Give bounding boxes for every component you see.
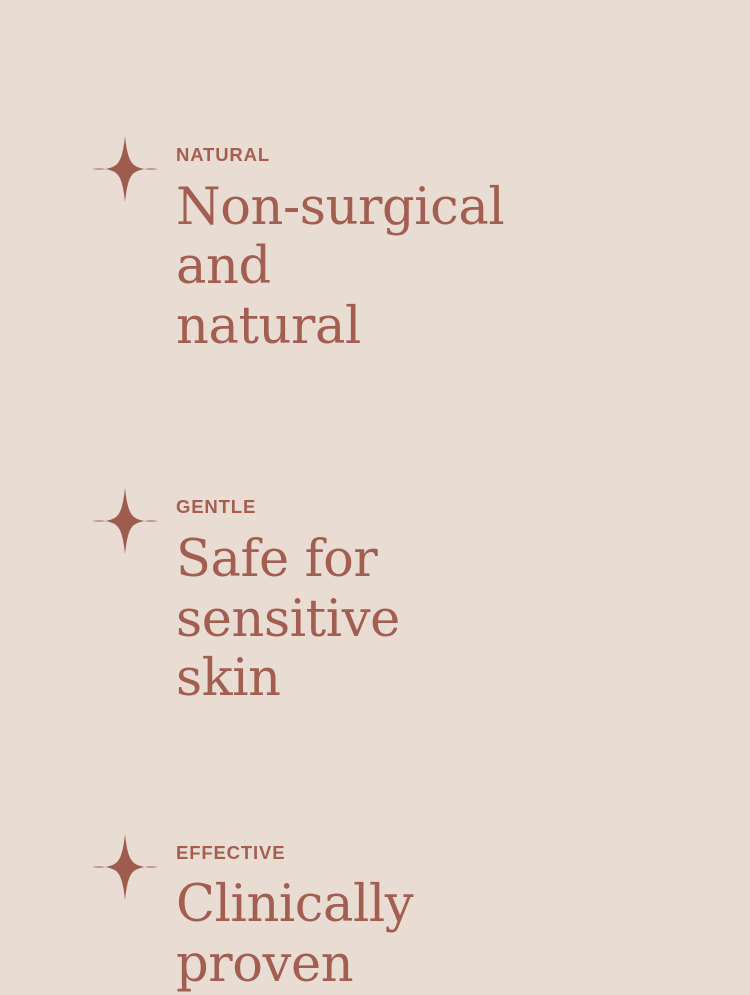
benefit-item: EFFECTIVE Clinically proven bbox=[0, 830, 750, 995]
benefit-heading-line: natural bbox=[176, 297, 606, 357]
sparkle-icon bbox=[92, 834, 158, 900]
benefit-heading: Safe for sensitive skin bbox=[176, 530, 606, 709]
benefit-label: EFFECTIVE bbox=[176, 830, 750, 863]
benefit-heading-line: Safe for sensitive bbox=[176, 530, 606, 649]
benefit-heading: Clinically proven bbox=[176, 875, 606, 994]
benefits-list: NATURAL Non-surgical and natural GENTLE … bbox=[0, 0, 750, 937]
sparkle-icon bbox=[92, 488, 158, 554]
benefit-item: GENTLE Safe for sensitive skin bbox=[0, 484, 750, 708]
benefit-heading-line: skin bbox=[176, 649, 606, 709]
sparkle-icon bbox=[92, 136, 158, 202]
benefit-label: NATURAL bbox=[176, 132, 750, 165]
benefit-heading-line: Clinically proven bbox=[176, 875, 606, 994]
benefit-heading-line: Non-surgical and bbox=[176, 178, 606, 297]
benefit-item: NATURAL Non-surgical and natural bbox=[0, 132, 750, 356]
benefit-heading: Non-surgical and natural bbox=[176, 178, 606, 357]
benefit-label: GENTLE bbox=[176, 484, 750, 517]
